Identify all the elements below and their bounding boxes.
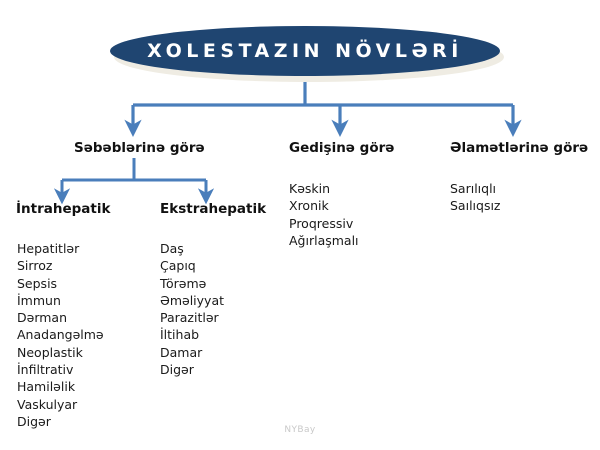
item-list-elametlerine-gore: SarılıqlıSaılıqsız bbox=[450, 180, 501, 215]
cholestasis-types-diagram: XOLESTAZIN NÖVLƏRİ Səbəblərinə görə Gedi… bbox=[0, 0, 600, 450]
list-item: Digər bbox=[160, 361, 224, 378]
list-item: Sarılıqlı bbox=[450, 180, 501, 197]
list-item: Daş bbox=[160, 240, 224, 257]
list-item: Dərman bbox=[17, 309, 104, 326]
list-item: Anadangəlmə bbox=[17, 326, 104, 343]
list-item: Ağırlaşmalı bbox=[289, 232, 359, 249]
list-item: Kəskin bbox=[289, 180, 359, 197]
item-list-ekstrahepatik: DaşÇapıqTörəməƏməliyyatParazitlərİltihab… bbox=[160, 240, 224, 378]
list-item: Saılıqsız bbox=[450, 197, 501, 214]
list-item: Çapıq bbox=[160, 257, 224, 274]
item-list-intrahepatik: HepatitlərSirrozSepsisİmmunDərmanAnadang… bbox=[17, 240, 104, 430]
title-ellipse-shape: XOLESTAZIN NÖVLƏRİ bbox=[110, 26, 500, 76]
title-text: XOLESTAZIN NÖVLƏRİ bbox=[147, 42, 463, 61]
diagram-title: XOLESTAZIN NÖVLƏRİ bbox=[110, 26, 500, 76]
branch-header-elametlerine-gore: Əlamətlərinə görə bbox=[450, 142, 588, 156]
list-item: Törəmə bbox=[160, 275, 224, 292]
list-item: Proqressiv bbox=[289, 215, 359, 232]
list-item: Sirroz bbox=[17, 257, 104, 274]
list-item: İnfiltrativ bbox=[17, 361, 104, 378]
item-list-gedisine-gore: KəskinXronikProqressivAğırlaşmalı bbox=[289, 180, 359, 249]
list-item: Neoplastik bbox=[17, 344, 104, 361]
branch-header-sebeblerine-gore: Səbəblərinə görə bbox=[74, 142, 205, 156]
list-item: Damar bbox=[160, 344, 224, 361]
list-item: Hepatitlər bbox=[17, 240, 104, 257]
subbranch-header-ekstrahepatik: Ekstrahepatik bbox=[160, 203, 266, 217]
list-item: Xronik bbox=[289, 197, 359, 214]
list-item: Sepsis bbox=[17, 275, 104, 292]
branch-header-gedisine-gore: Gedişinə görə bbox=[289, 142, 394, 156]
watermark: NYBay bbox=[0, 425, 600, 435]
list-item: Hamiləlik bbox=[17, 378, 104, 395]
list-item: Vaskulyar bbox=[17, 396, 104, 413]
list-item: Əməliyyat bbox=[160, 292, 224, 309]
list-item: İltihab bbox=[160, 326, 224, 343]
list-item: Parazitlər bbox=[160, 309, 224, 326]
list-item: İmmun bbox=[17, 292, 104, 309]
subbranch-header-intrahepatik: İntrahepatik bbox=[16, 203, 110, 217]
